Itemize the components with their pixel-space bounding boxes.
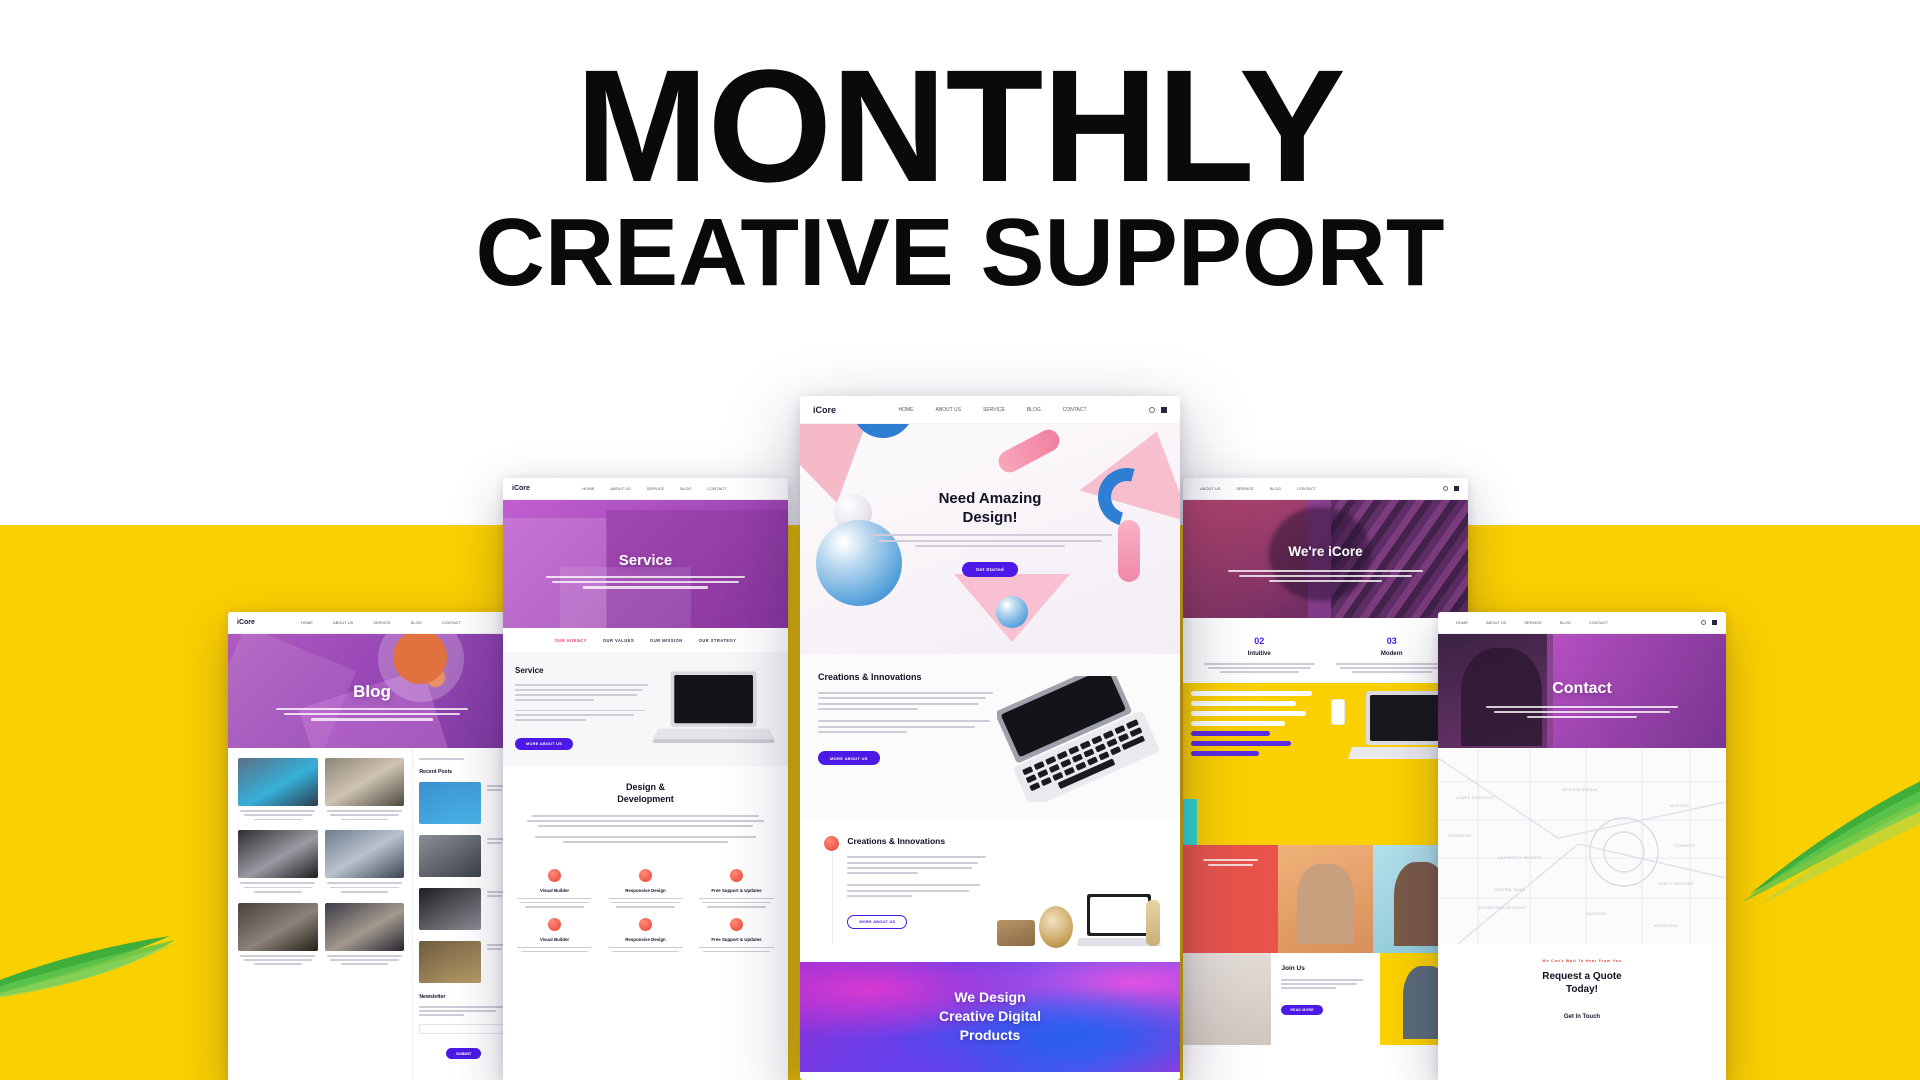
hero-subtitle bbox=[868, 534, 1111, 547]
workspace-section bbox=[1183, 683, 1468, 845]
post-thumbnail bbox=[238, 903, 318, 951]
search-icon[interactable] bbox=[1149, 407, 1155, 413]
laptop-illustration bbox=[651, 666, 776, 752]
map-label: TOWNSITE bbox=[1674, 844, 1695, 848]
hero-title: Service bbox=[503, 552, 788, 569]
blue-sphere-shape bbox=[996, 596, 1028, 628]
join-us-section: Join Us READ MORE bbox=[1183, 953, 1468, 1045]
feature-title: Responsive Design bbox=[604, 937, 687, 942]
section-body-text bbox=[515, 684, 651, 721]
alarm-clock-icon bbox=[1039, 906, 1073, 948]
feature-visual-builder-2[interactable]: Visual Builder bbox=[513, 918, 596, 953]
brand-logo[interactable]: iCore bbox=[512, 485, 530, 492]
hero-title: Contact bbox=[1438, 680, 1726, 698]
post-caption bbox=[325, 882, 405, 892]
navbar: iCore HOME ABOUT US SERVICE BLOG CONTACT bbox=[503, 478, 788, 500]
section-title: Creations & Innovations bbox=[818, 672, 997, 682]
footer-title-line2: Creative Digital bbox=[939, 1008, 1041, 1024]
feature-title: Visual Builder bbox=[513, 888, 596, 893]
hero-cta-wrap: Get Started bbox=[800, 558, 1180, 577]
hero-title: Blog bbox=[228, 682, 516, 702]
mockup-blog[interactable]: iCore HOME ABOUT US SERVICE BLOG CONTACT… bbox=[228, 612, 516, 1080]
hero-banner: We're iCore bbox=[1183, 500, 1468, 618]
blog-post-grid bbox=[228, 748, 412, 1080]
footer-title-line1: We Design bbox=[954, 989, 1025, 1005]
section-body-text bbox=[847, 856, 989, 897]
post-caption bbox=[325, 810, 405, 820]
feature-title: Responsive Design bbox=[604, 888, 687, 893]
feature-title: Free Support & Updates bbox=[695, 888, 778, 893]
quote-title: Request a QuoteToday! bbox=[1454, 970, 1710, 996]
tab-our-mission[interactable]: OUR MISSION bbox=[650, 638, 683, 643]
tab-our-values[interactable]: OUR VALUES bbox=[603, 638, 634, 643]
feature-bullet-icon bbox=[639, 918, 652, 931]
map-label: SPRINGFIELD-BELMONT bbox=[1478, 906, 1526, 910]
feature-bullet-icon bbox=[548, 869, 561, 882]
nav-item-contact[interactable]: CONTACT bbox=[442, 620, 461, 625]
list-item[interactable] bbox=[238, 830, 318, 892]
hero-subtitle bbox=[1217, 570, 1434, 582]
feature-row-1: Visual Builder Responsive Design Free Su… bbox=[503, 869, 788, 918]
hero-title-line1: Need Amazing bbox=[939, 490, 1042, 507]
more-about-us-button[interactable]: MORE ABOUT US bbox=[515, 738, 573, 750]
list-item[interactable] bbox=[419, 888, 508, 930]
list-item[interactable] bbox=[325, 830, 405, 892]
nav-icons bbox=[1149, 407, 1167, 413]
blog-sidebar: Recent Posts bbox=[412, 748, 516, 1080]
list-item[interactable] bbox=[325, 758, 405, 820]
navbar: ABOUT US SERVICE BLOG CONTACT bbox=[1183, 478, 1468, 500]
nav-item-about[interactable]: ABOUT US bbox=[1200, 486, 1220, 491]
post-thumbnail bbox=[419, 941, 481, 983]
hero-subtitle bbox=[263, 708, 482, 721]
nav-item-about[interactable]: ABOUT US bbox=[333, 620, 353, 625]
post-caption bbox=[238, 882, 318, 892]
map-label: IRONBOUND bbox=[1654, 924, 1678, 928]
nav-item-home[interactable]: HOME bbox=[898, 407, 913, 413]
section-title: Design &Development bbox=[517, 782, 774, 805]
section-title: Join Us bbox=[1281, 965, 1369, 972]
blog-card-row bbox=[238, 903, 404, 965]
menu-icon[interactable] bbox=[1161, 407, 1167, 413]
nav-links: HOME ABOUT US SERVICE BLOG CONTACT bbox=[836, 407, 1149, 413]
more-about-us-button[interactable]: MORE ABOUT US bbox=[847, 915, 907, 929]
headline-secondary: CREATIVE SUPPORT bbox=[0, 205, 1920, 301]
list-item[interactable] bbox=[238, 758, 318, 820]
section-title: Service bbox=[515, 666, 651, 675]
blog-card-row bbox=[238, 830, 404, 892]
post-caption bbox=[238, 810, 318, 820]
hero-title-line2: Design! bbox=[962, 509, 1017, 526]
timeline-rail bbox=[816, 834, 847, 952]
newsletter-email-input[interactable] bbox=[419, 1024, 508, 1034]
briefcase-icon bbox=[997, 920, 1035, 946]
headline-primary: MONTHLY bbox=[0, 52, 1920, 199]
map-section[interactable]: LOWER ROSEVILLE SEVENTH AVENUE MONTAGE F… bbox=[1438, 748, 1726, 944]
post-thumbnail bbox=[419, 782, 481, 824]
team-section bbox=[1183, 845, 1468, 953]
blog-body: Recent Posts bbox=[228, 748, 516, 1080]
timeline-section: Creations & Innovations MORE ABOUT US bbox=[800, 818, 1180, 962]
nav-icons bbox=[1701, 620, 1717, 625]
map-label: MONTAGE bbox=[1670, 804, 1690, 808]
post-thumbnail bbox=[238, 758, 318, 806]
post-thumbnail bbox=[238, 830, 318, 878]
post-thumbnail bbox=[325, 758, 405, 806]
feature-number: 02 bbox=[1193, 636, 1326, 646]
nav-item-service[interactable]: SERVICE bbox=[1524, 620, 1542, 625]
list-item[interactable] bbox=[238, 903, 318, 965]
nav-links: ABOUT US SERVICE BLOG CONTACT bbox=[1192, 486, 1443, 491]
navbar: iCore HOME ABOUT US SERVICE BLOG CONTACT bbox=[800, 396, 1180, 424]
feature-responsive-design-2[interactable]: Responsive Design bbox=[604, 918, 687, 953]
nav-item-home[interactable]: HOME bbox=[1456, 620, 1468, 625]
list-item[interactable] bbox=[419, 782, 508, 824]
nav-item-contact[interactable]: CONTACT bbox=[1063, 407, 1087, 413]
feature-free-support-2[interactable]: Free Support & Updates bbox=[695, 918, 778, 953]
nav-icons bbox=[1443, 486, 1459, 491]
hero-banner: Blog bbox=[228, 634, 516, 748]
map-label: NORTH PARKSIDE bbox=[1658, 882, 1693, 886]
nav-item-blog[interactable]: BLOG bbox=[411, 620, 422, 625]
footer-title: We Design Creative Digital Products bbox=[800, 988, 1180, 1045]
post-caption bbox=[325, 955, 405, 965]
navbar: iCore HOME ABOUT US SERVICE BLOG CONTACT bbox=[228, 612, 516, 634]
feature-title: Free Support & Updates bbox=[695, 937, 778, 942]
poster-canvas: MONTHLY CREATIVE SUPPORT iCore HOME ABOU… bbox=[0, 0, 1920, 1080]
feature-bullet-icon bbox=[730, 918, 743, 931]
team-card[interactable] bbox=[1278, 845, 1373, 953]
post-thumbnail bbox=[419, 835, 481, 877]
products-illustration bbox=[997, 834, 1164, 952]
get-in-touch-heading: Get In Touch bbox=[1438, 1014, 1726, 1020]
nav-item-contact[interactable]: CONTACT bbox=[1297, 486, 1316, 491]
join-us-image bbox=[1183, 953, 1271, 1045]
nav-item-home[interactable]: HOME bbox=[301, 620, 313, 625]
list-item[interactable] bbox=[325, 903, 405, 965]
navbar: HOME ABOUT US SERVICE BLOG CONTACT bbox=[1438, 612, 1726, 634]
map-label: LOWER ROSEVILLE bbox=[1456, 796, 1494, 800]
quote-eyebrow: We Can't Wait To Hear From You bbox=[1454, 958, 1710, 963]
pink-capsule-shape bbox=[995, 426, 1064, 476]
feature-bullet-icon bbox=[548, 918, 561, 931]
feature-responsive-design[interactable]: Responsive Design bbox=[604, 869, 687, 908]
numbered-feature-row: 02 Intuitive 03 Modern bbox=[1183, 618, 1468, 683]
map-label: SEVENTH AVENUE bbox=[1562, 788, 1598, 792]
newsletter-text bbox=[419, 1006, 508, 1016]
phone-illustration bbox=[1331, 699, 1345, 725]
post-thumbnail bbox=[325, 903, 405, 951]
nav-links: HOME ABOUT US SERVICE BLOG CONTACT bbox=[530, 486, 779, 491]
section-title: Creations & Innovations bbox=[847, 836, 989, 846]
mockup-service[interactable]: iCore HOME ABOUT US SERVICE BLOG CONTACT… bbox=[503, 478, 788, 1080]
numbered-feature-intuitive[interactable]: 02 Intuitive bbox=[1193, 636, 1326, 673]
tab-our-agency[interactable]: OUR AGENCY bbox=[555, 638, 587, 643]
timeline-marker-icon bbox=[824, 836, 839, 851]
map-label: FAIRMOUNT bbox=[1448, 834, 1472, 838]
nav-item-about[interactable]: ABOUT US bbox=[610, 486, 630, 491]
nav-item-blog[interactable]: BLOG bbox=[1027, 407, 1041, 413]
list-item[interactable] bbox=[419, 941, 508, 983]
nav-links: HOME ABOUT US SERVICE BLOG CONTACT bbox=[1447, 620, 1701, 625]
join-us-text: Join Us READ MORE bbox=[1271, 953, 1379, 1045]
figurine-icon bbox=[1146, 900, 1160, 946]
hero-subtitle bbox=[1473, 706, 1692, 718]
service-tabs: OUR AGENCY OUR VALUES OUR MISSION OUR ST… bbox=[503, 628, 788, 652]
list-item[interactable] bbox=[419, 835, 508, 877]
tab-our-strategy[interactable]: OUR STRATEGY bbox=[699, 638, 737, 643]
search-icon[interactable] bbox=[1701, 620, 1706, 625]
feature-title: Intuitive bbox=[1193, 651, 1326, 657]
quote-section: We Can't Wait To Hear From You Request a… bbox=[1438, 944, 1726, 1004]
nav-item-about[interactable]: ABOUT US bbox=[1486, 620, 1506, 625]
service-image bbox=[651, 666, 776, 752]
read-more-button[interactable]: READ MORE bbox=[1281, 1005, 1322, 1015]
section-body-text bbox=[517, 815, 774, 842]
footer-title-line3: Products bbox=[960, 1027, 1021, 1043]
post-thumbnail bbox=[419, 888, 481, 930]
map-label: UNIVERSITY HEIGHTS bbox=[1498, 856, 1542, 860]
post-caption bbox=[238, 955, 318, 965]
nav-item-service[interactable]: SERVICE bbox=[1236, 486, 1254, 491]
mockup-contact[interactable]: HOME ABOUT US SERVICE BLOG CONTACT Conta… bbox=[1438, 612, 1726, 1080]
hero-banner: Need Amazing Design! Get Started bbox=[800, 424, 1180, 654]
footer-banner: We Design Creative Digital Products bbox=[800, 962, 1180, 1072]
design-development-section: Design &Development bbox=[503, 766, 788, 869]
newsletter-submit-button[interactable]: SUBMIT bbox=[446, 1048, 481, 1059]
poster-headline: MONTHLY CREATIVE SUPPORT bbox=[0, 52, 1920, 301]
brand-logo[interactable]: iCore bbox=[237, 619, 255, 626]
service-section: Service MORE ABOUT US bbox=[503, 652, 788, 766]
nav-links: HOME ABOUT US SERVICE BLOG CONTACT bbox=[255, 620, 507, 625]
nav-item-home[interactable]: HOME bbox=[582, 486, 594, 491]
mockup-home[interactable]: iCore HOME ABOUT US SERVICE BLOG CONTACT bbox=[800, 396, 1180, 1080]
hero-banner: Contact bbox=[1438, 634, 1726, 748]
team-card[interactable] bbox=[1183, 845, 1278, 953]
blog-card-row bbox=[238, 758, 404, 820]
feature-row-2: Visual Builder Responsive Design Free Su… bbox=[503, 918, 788, 963]
service-text-column: Service MORE ABOUT US bbox=[515, 666, 651, 752]
map-label: CENTRAL WARD bbox=[1494, 888, 1526, 892]
newsletter-heading: Newsletter bbox=[419, 994, 508, 1000]
nav-item-contact[interactable]: CONTACT bbox=[1589, 620, 1608, 625]
feature-title: Visual Builder bbox=[513, 937, 596, 942]
nav-item-blog[interactable]: BLOG bbox=[680, 486, 691, 491]
feature-bullet-icon bbox=[639, 869, 652, 882]
more-about-us-button[interactable]: MORE ABOUT US bbox=[818, 751, 880, 765]
nav-item-blog[interactable]: BLOG bbox=[1560, 620, 1571, 625]
nav-item-service[interactable]: SERVICE bbox=[373, 620, 391, 625]
nav-item-about[interactable]: ABOUT US bbox=[935, 407, 960, 413]
creations-innovations-section: Creations & Innovations MORE ABOUT US bbox=[800, 654, 1180, 818]
post-thumbnail bbox=[325, 830, 405, 878]
map-label: EASTSIDE bbox=[1586, 912, 1606, 916]
hero-title: Need Amazing Design! bbox=[800, 490, 1180, 528]
get-in-touch-block: Get In Touch bbox=[1438, 1004, 1726, 1020]
brand-logo[interactable]: iCore bbox=[813, 405, 836, 415]
hero-banner: Service bbox=[503, 500, 788, 628]
hero-subtitle bbox=[537, 576, 754, 589]
feature-bullet-icon bbox=[730, 869, 743, 882]
hero-title: We're iCore bbox=[1183, 544, 1468, 559]
search-icon[interactable] bbox=[1443, 486, 1448, 491]
feature-visual-builder[interactable]: Visual Builder bbox=[513, 869, 596, 908]
nav-item-service[interactable]: SERVICE bbox=[647, 486, 665, 491]
laptop-illustration bbox=[997, 676, 1162, 802]
recent-posts-heading: Recent Posts bbox=[419, 769, 508, 775]
mockup-about[interactable]: ABOUT US SERVICE BLOG CONTACT We're iCor… bbox=[1183, 478, 1468, 1080]
menu-icon[interactable] bbox=[1454, 486, 1459, 491]
nav-item-service[interactable]: SERVICE bbox=[983, 407, 1005, 413]
nav-item-blog[interactable]: BLOG bbox=[1270, 486, 1281, 491]
section-body-text bbox=[818, 692, 997, 733]
nav-item-contact[interactable]: CONTACT bbox=[707, 486, 726, 491]
menu-icon[interactable] bbox=[1712, 620, 1717, 625]
get-started-button[interactable]: Get Started bbox=[962, 562, 1018, 577]
feature-free-support[interactable]: Free Support & Updates bbox=[695, 869, 778, 908]
